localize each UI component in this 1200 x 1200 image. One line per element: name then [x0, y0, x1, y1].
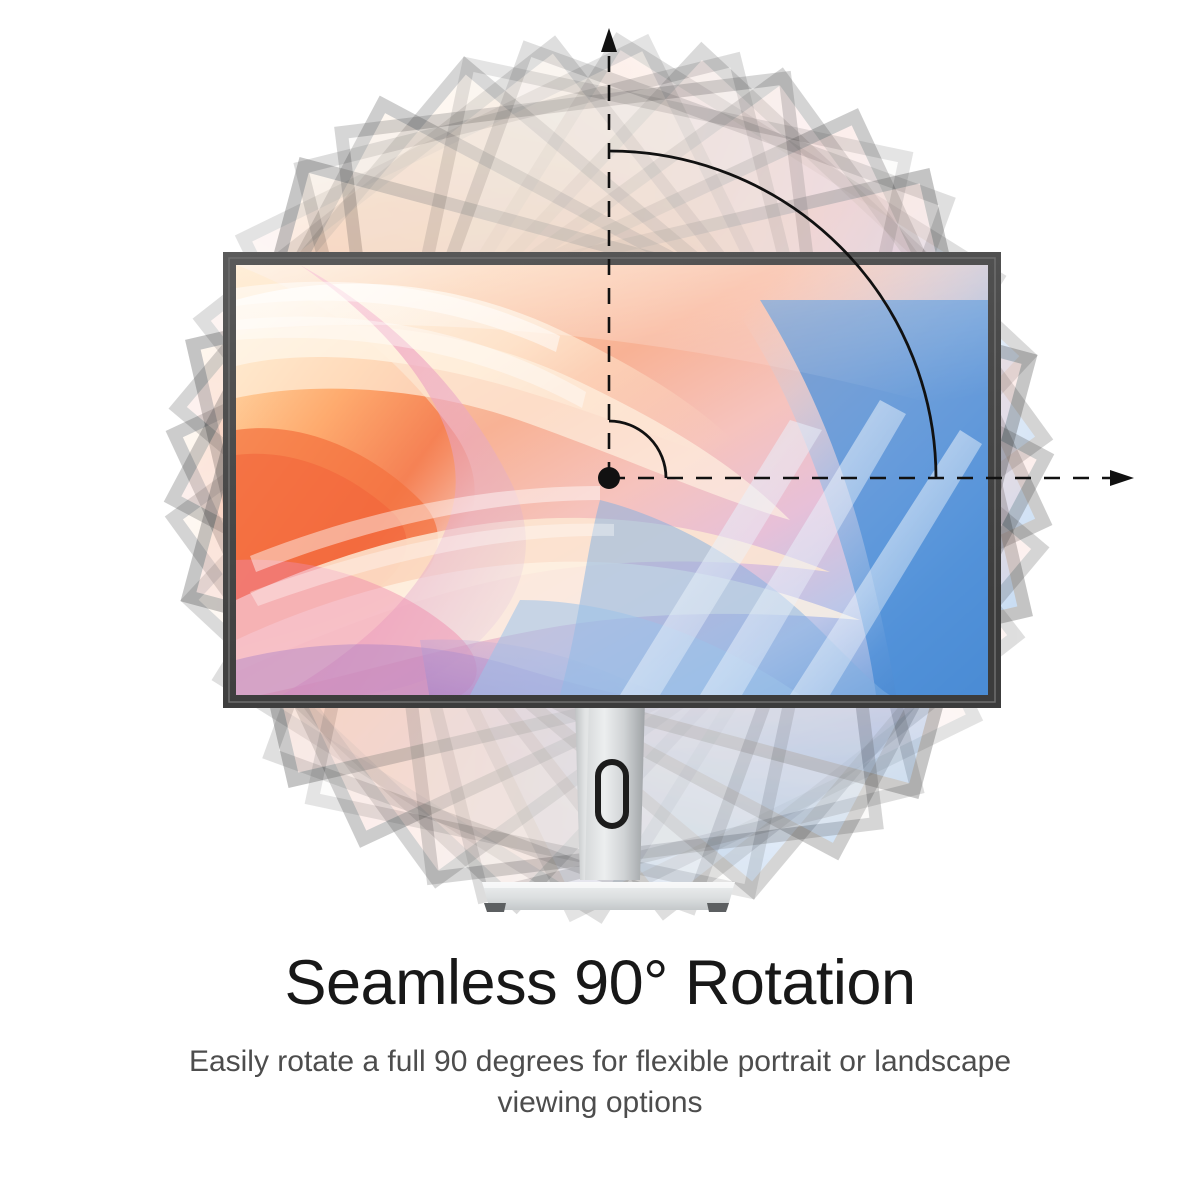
page-title: Seamless 90° Rotation	[0, 950, 1200, 1016]
caption-block: Seamless 90° Rotation Easily rotate a fu…	[0, 950, 1200, 1123]
horizontal-axis-arrowhead	[1110, 470, 1134, 486]
rotation-pivot-point	[598, 467, 620, 489]
page-subtitle: Easily rotate a full 90 degrees for flex…	[150, 1042, 1050, 1123]
illustration-stage: Seamless 90° Rotation Easily rotate a fu…	[0, 0, 1200, 1200]
